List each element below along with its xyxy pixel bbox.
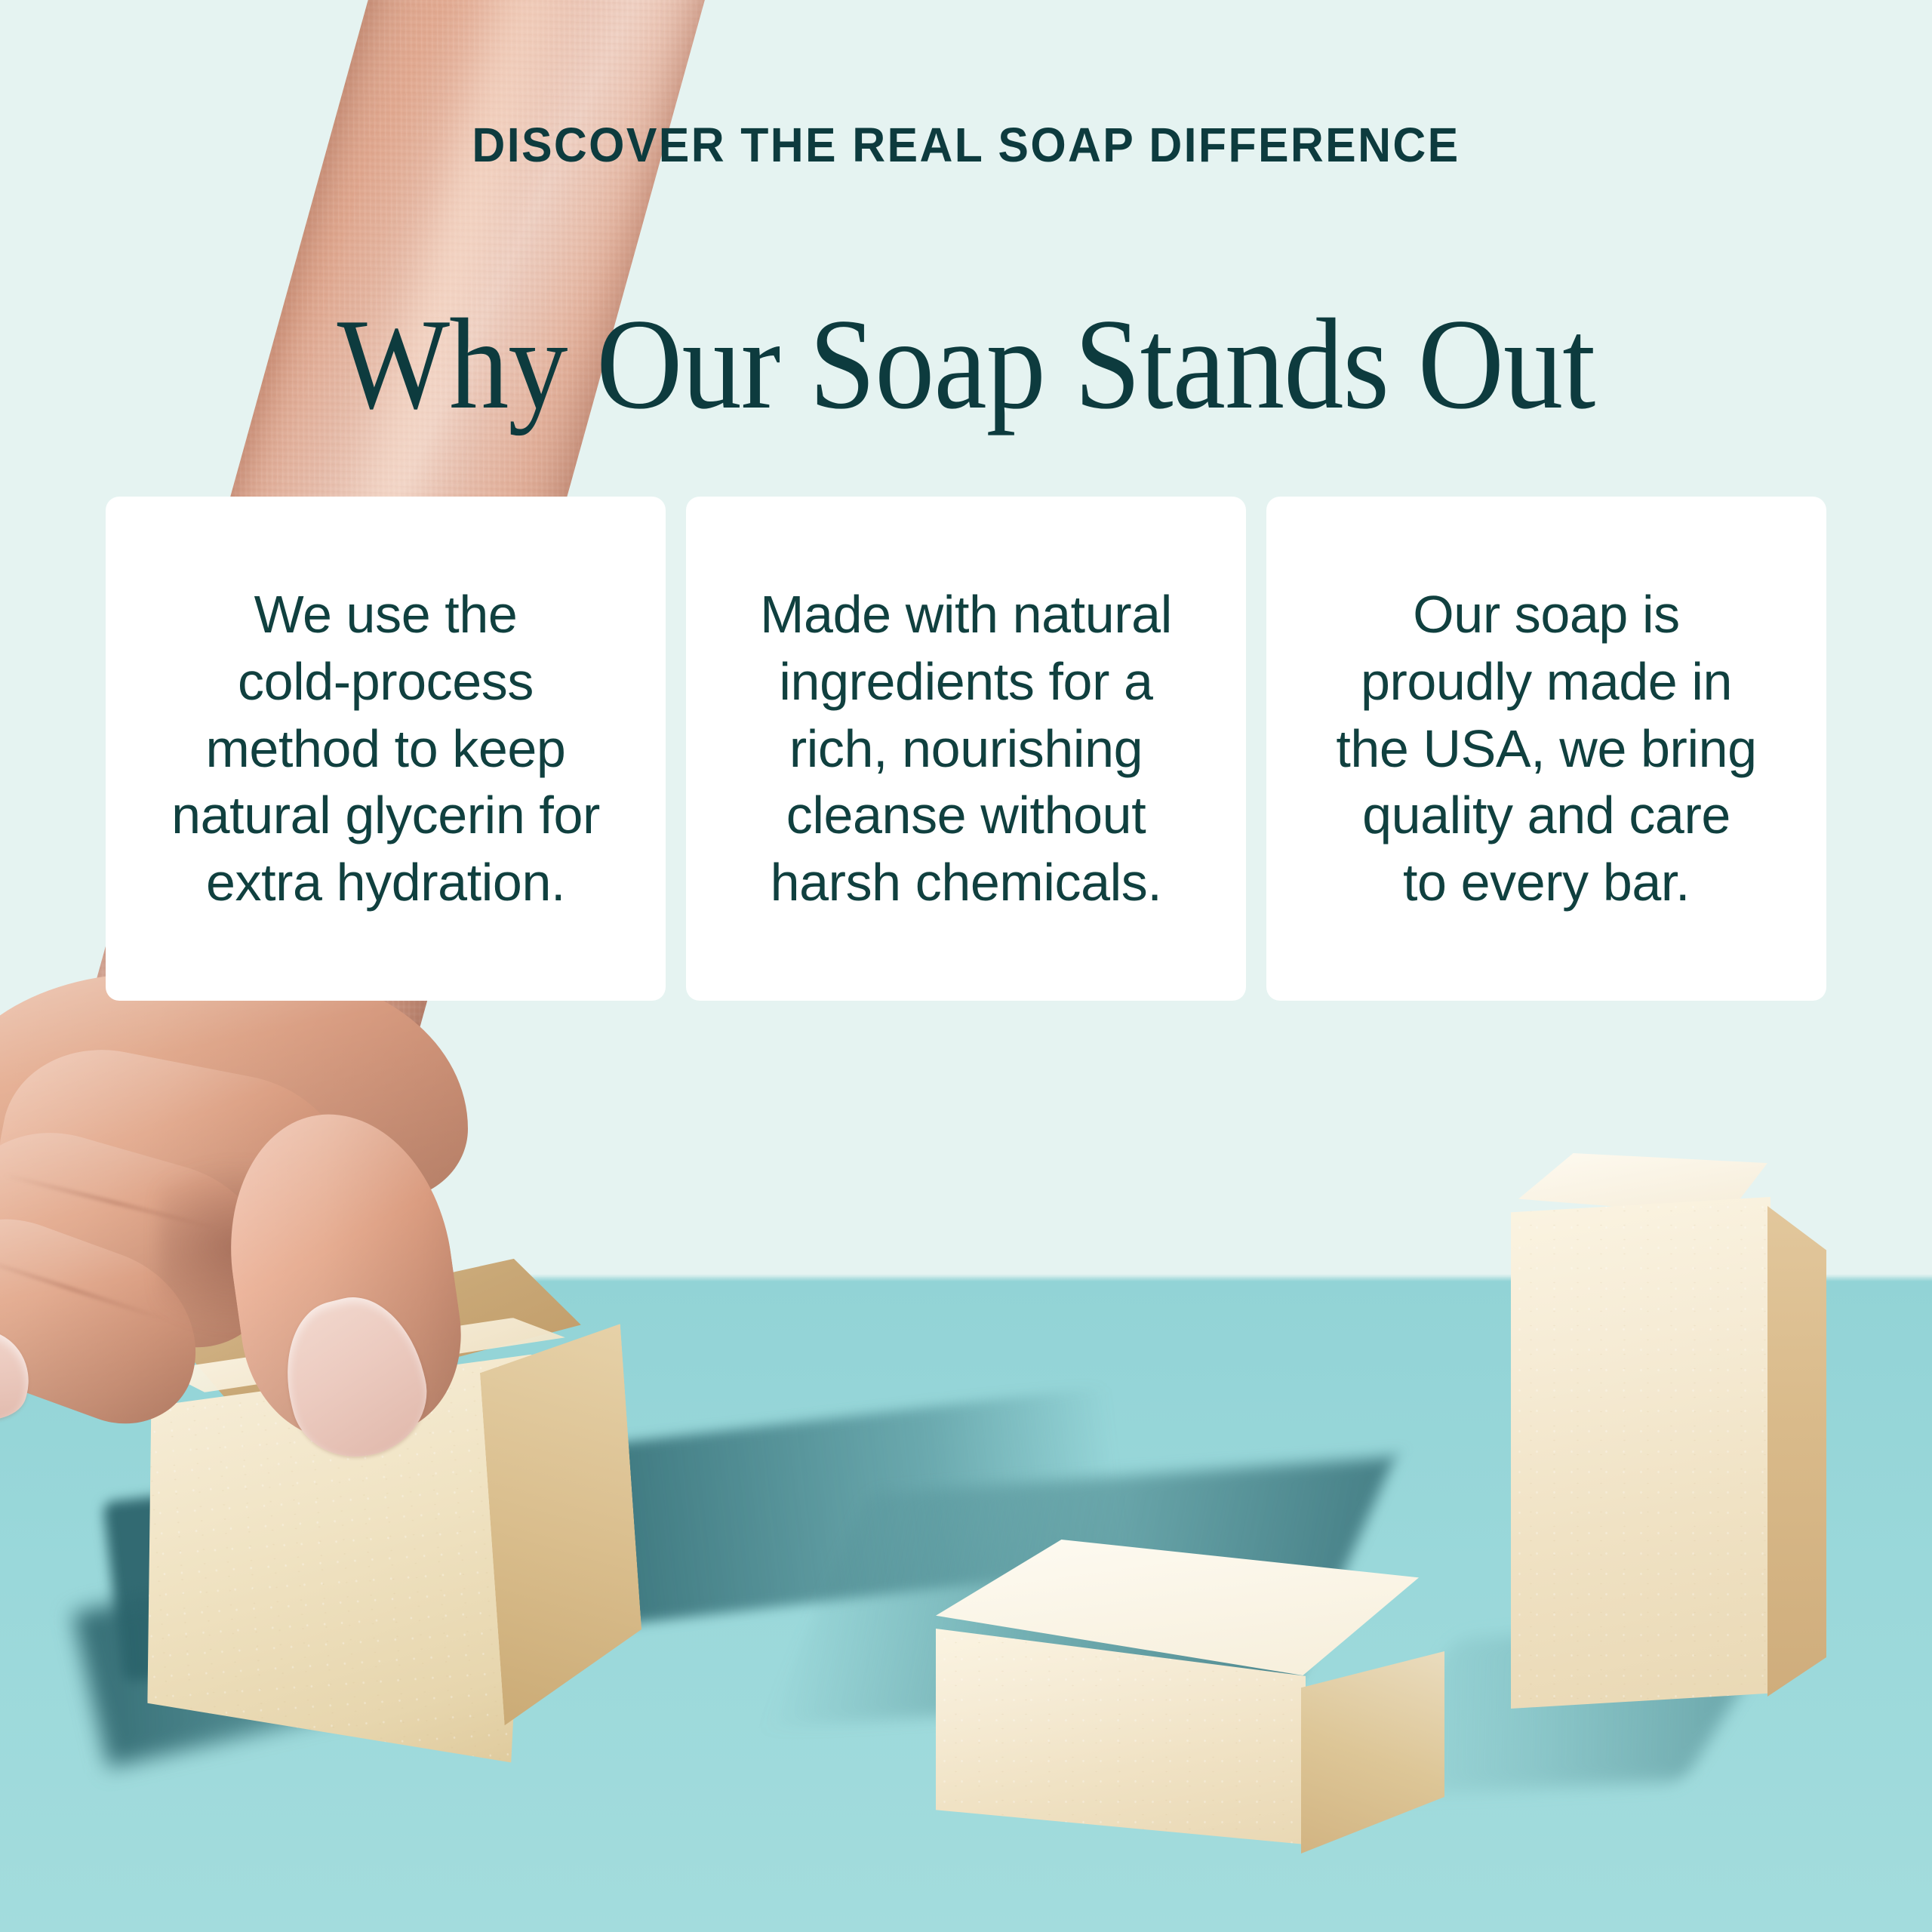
soap-front-face [1511,1197,1770,1709]
feature-card-text: Our soap is proudly made in the USA, we … [1336,581,1756,916]
soap-texture [1511,1197,1770,1709]
feature-card-made-in-usa: Our soap is proudly made in the USA, we … [1266,497,1826,1001]
feature-card-text: Made with natural ingredients for a rich… [760,581,1172,916]
promo-graphic: DISCOVER THE REAL SOAP DIFFERENCE Why Ou… [0,0,1932,1932]
soap-side-face [1301,1651,1444,1854]
hand-photo [0,974,558,1600]
feature-card-row: We use the cold-process method to keep n… [106,497,1826,1001]
feature-card-cold-process: We use the cold-process method to keep n… [106,497,666,1001]
soap-bar-lying [936,1540,1494,1857]
eyebrow-text: DISCOVER THE REAL SOAP DIFFERENCE [48,117,1884,173]
feature-card-natural-ingredients: Made with natural ingredients for a rich… [686,497,1246,1001]
soap-side-face [1767,1206,1826,1697]
feature-card-text: We use the cold-process method to keep n… [171,581,600,916]
soap-bar-standing [1511,1153,1826,1712]
page-title: Why Our Soap Stands Out [77,300,1854,429]
